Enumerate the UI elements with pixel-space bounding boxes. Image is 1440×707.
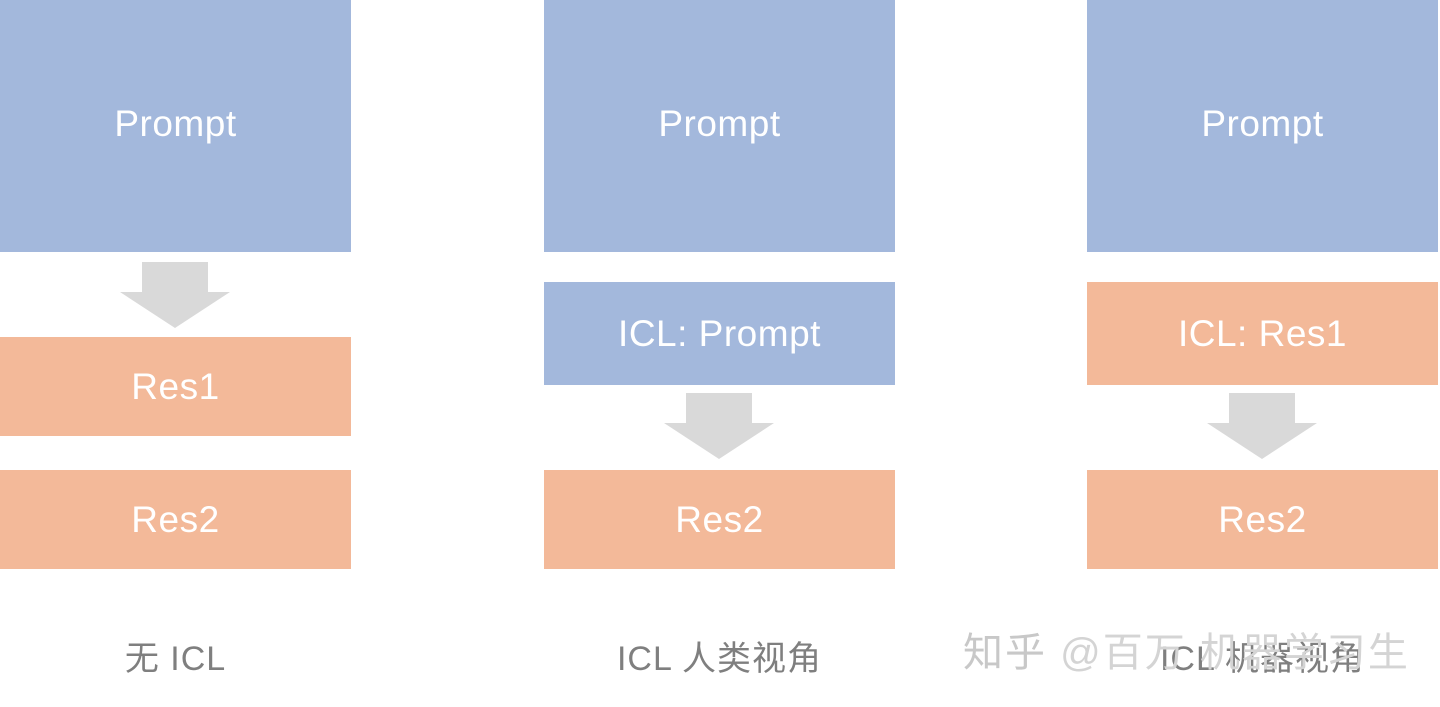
column-icl-machine: Prompt ICL: Res1 Res2 ICL 机器视角 — [1087, 0, 1438, 707]
block-res1: Res1 — [0, 337, 351, 436]
block-icl-res1: ICL: Res1 — [1087, 282, 1438, 385]
block-prompt: Prompt — [1087, 0, 1438, 252]
arrow-down-icon — [120, 262, 230, 328]
block-icl-prompt: ICL: Prompt — [544, 282, 895, 385]
column-caption-no-icl: 无 ICL — [0, 631, 351, 680]
block-prompt: Prompt — [544, 0, 895, 252]
column-no-icl: Prompt Res1 Res2 无 ICL — [0, 0, 351, 707]
arrow-down-icon — [664, 393, 774, 459]
watermark: 知乎 @百万 机器学习生 — [963, 620, 1410, 678]
block-res2: Res2 — [0, 470, 351, 569]
block-res2: Res2 — [1087, 470, 1438, 569]
column-caption-icl-human: ICL 人类视角 — [544, 631, 895, 680]
column-icl-human: Prompt ICL: Prompt Res2 ICL 人类视角 — [544, 0, 895, 707]
arrow-down-icon — [1207, 393, 1317, 459]
diagram-canvas: Prompt Res1 Res2 无 ICL Prompt ICL: Promp… — [0, 0, 1440, 707]
block-prompt: Prompt — [0, 0, 351, 252]
block-res2: Res2 — [544, 470, 895, 569]
watermark-handle: @百万 机器学习生 — [1060, 631, 1410, 675]
watermark-platform: 知乎 — [963, 631, 1047, 675]
